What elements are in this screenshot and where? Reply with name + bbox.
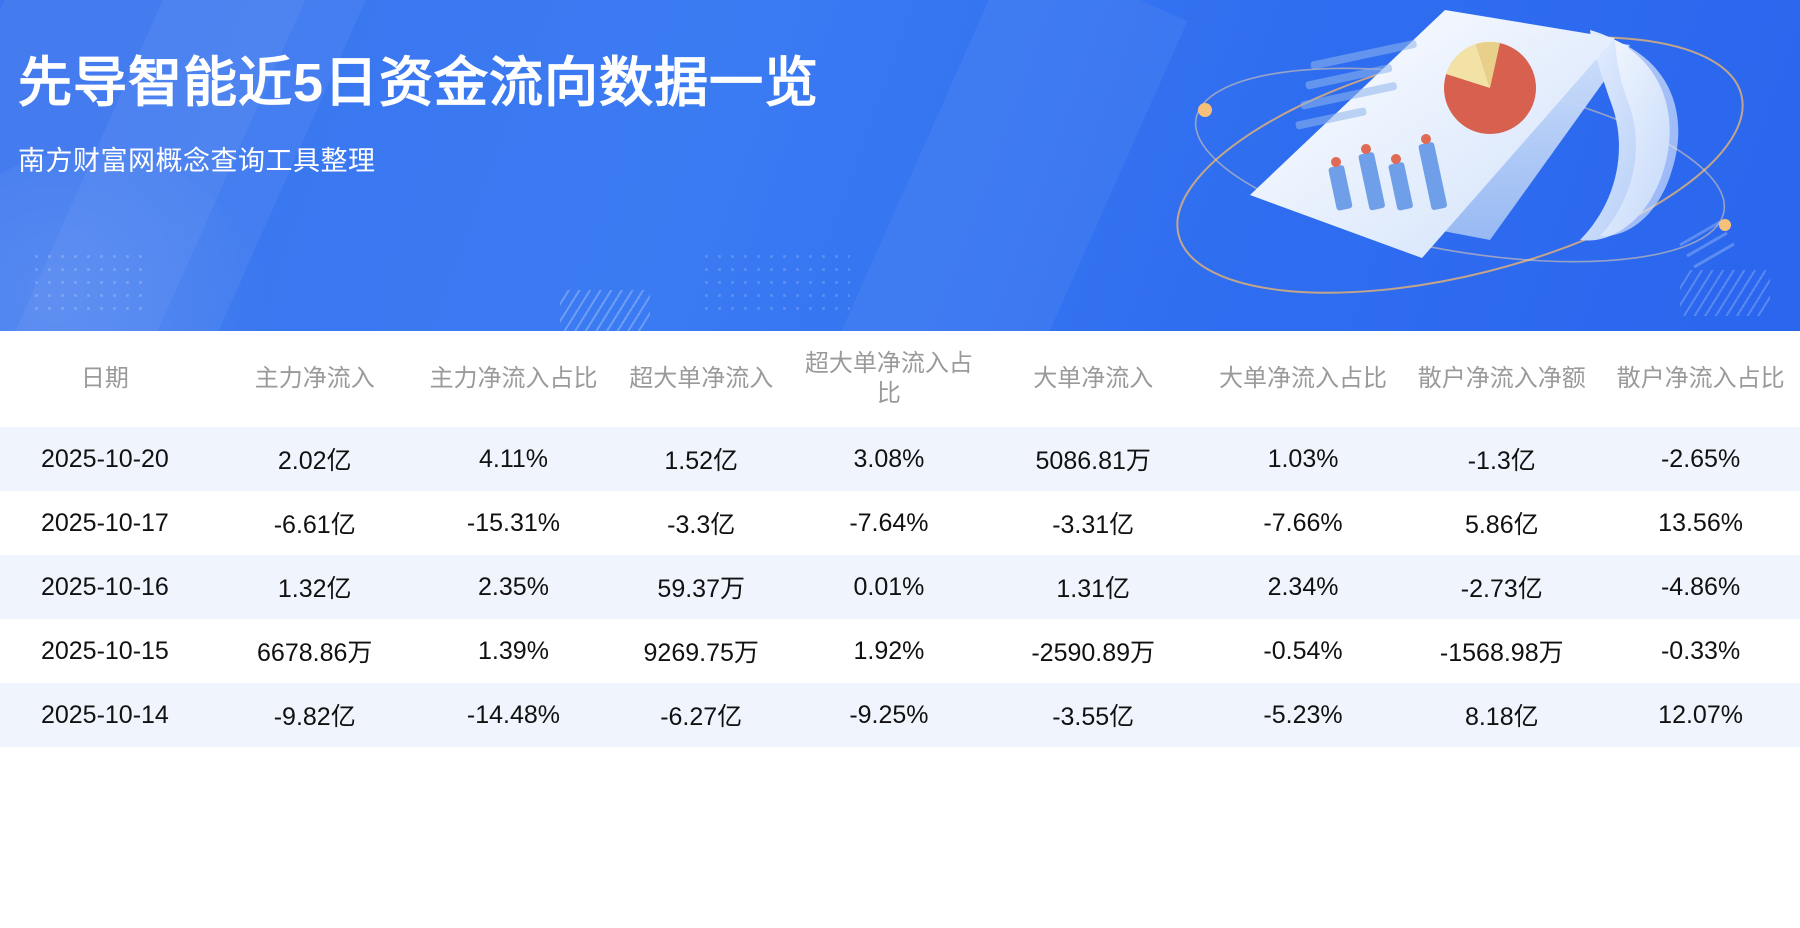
cell-large-net-inflow: 5086.81万 — [983, 427, 1204, 491]
cell-retail-net-pct: -4.86% — [1601, 555, 1800, 619]
table-row: 2025-10-14 -9.82亿 -14.48% -6.27亿 -9.25% … — [0, 683, 1800, 747]
table-row: 2025-10-15 6678.86万 1.39% 9269.75万 1.92%… — [0, 619, 1800, 683]
page-root: 先导智能近5日资金流向数据一览 南方财富网概念查询工具整理 — [0, 0, 1800, 928]
cell-retail-net-amount: 5.86亿 — [1402, 491, 1601, 555]
cell-large-net-inflow: -2590.89万 — [983, 619, 1204, 683]
table-body: 2025-10-20 2.02亿 4.11% 1.52亿 3.08% 5086.… — [0, 427, 1800, 747]
financial-report-chart-illustration — [1160, 0, 1780, 330]
cell-super-large-net-inflow-pct: -7.64% — [795, 491, 983, 555]
cell-main-net-inflow: 2.02亿 — [210, 427, 420, 491]
cell-super-large-net-inflow: 59.37万 — [607, 555, 795, 619]
cell-retail-net-amount: -1568.98万 — [1402, 619, 1601, 683]
page-title: 先导智能近5日资金流向数据一览 — [18, 52, 819, 116]
cell-large-net-inflow: -3.31亿 — [983, 491, 1204, 555]
cell-main-net-inflow: -9.82亿 — [210, 683, 420, 747]
table-header-row: 日期 主力净流入 主力净流入占比 超大单净流入 超大单净流入占比 大单净流入 大… — [0, 331, 1800, 427]
fund-flow-table-section: 南方财富网 Southmoney.com 日期 主力净流入 主力净流入占比 超大… — [0, 331, 1800, 928]
cell-main-net-inflow-pct: 2.35% — [420, 555, 608, 619]
cell-large-net-inflow-pct: -5.23% — [1204, 683, 1403, 747]
column-header-main-net-inflow-pct: 主力净流入占比 — [420, 331, 608, 427]
fund-flow-table: 日期 主力净流入 主力净流入占比 超大单净流入 超大单净流入占比 大单净流入 大… — [0, 331, 1800, 747]
cell-date: 2025-10-20 — [0, 427, 210, 491]
cell-super-large-net-inflow-pct: 1.92% — [795, 619, 983, 683]
cell-large-net-inflow-pct: -7.66% — [1204, 491, 1403, 555]
banner-decoration-dots — [30, 250, 150, 310]
cell-large-net-inflow-pct: 2.34% — [1204, 555, 1403, 619]
column-header-retail-net-amount: 散户净流入净额 — [1402, 331, 1601, 427]
cell-date: 2025-10-17 — [0, 491, 210, 555]
column-header-main-net-inflow: 主力净流入 — [210, 331, 420, 427]
cell-retail-net-pct: -2.65% — [1601, 427, 1800, 491]
cell-date: 2025-10-14 — [0, 683, 210, 747]
table-row: 2025-10-16 1.32亿 2.35% 59.37万 0.01% 1.31… — [0, 555, 1800, 619]
column-header-retail-net-pct: 散户净流入占比 — [1601, 331, 1800, 427]
column-header-large-net-inflow: 大单净流入 — [983, 331, 1204, 427]
table-row: 2025-10-17 -6.61亿 -15.31% -3.3亿 -7.64% -… — [0, 491, 1800, 555]
cell-main-net-inflow-pct: -14.48% — [420, 683, 608, 747]
table-header: 日期 主力净流入 主力净流入占比 超大单净流入 超大单净流入占比 大单净流入 大… — [0, 331, 1800, 427]
column-header-super-large-net-inflow: 超大单净流入 — [607, 331, 795, 427]
cell-large-net-inflow-pct: 1.03% — [1204, 427, 1403, 491]
banner-decoration-dots — [700, 250, 850, 320]
cell-super-large-net-inflow-pct: 0.01% — [795, 555, 983, 619]
cell-large-net-inflow: -3.55亿 — [983, 683, 1204, 747]
cell-super-large-net-inflow: 1.52亿 — [607, 427, 795, 491]
cell-main-net-inflow-pct: 4.11% — [420, 427, 608, 491]
cell-main-net-inflow-pct: -15.31% — [420, 491, 608, 555]
cell-super-large-net-inflow: -6.27亿 — [607, 683, 795, 747]
banner-decoration-hatch — [560, 290, 650, 331]
cell-large-net-inflow: 1.31亿 — [983, 555, 1204, 619]
cell-main-net-inflow-pct: 1.39% — [420, 619, 608, 683]
cell-main-net-inflow: 1.32亿 — [210, 555, 420, 619]
cell-retail-net-pct: 12.07% — [1601, 683, 1800, 747]
cell-super-large-net-inflow: -3.3亿 — [607, 491, 795, 555]
cell-retail-net-pct: 13.56% — [1601, 491, 1800, 555]
cell-main-net-inflow: -6.61亿 — [210, 491, 420, 555]
cell-super-large-net-inflow-pct: 3.08% — [795, 427, 983, 491]
cell-super-large-net-inflow-pct: -9.25% — [795, 683, 983, 747]
page-subtitle: 南方财富网概念查询工具整理 — [18, 144, 376, 179]
column-header-large-net-inflow-pct: 大单净流入占比 — [1204, 331, 1403, 427]
cell-retail-net-amount: -1.3亿 — [1402, 427, 1601, 491]
cell-large-net-inflow-pct: -0.54% — [1204, 619, 1403, 683]
cell-date: 2025-10-15 — [0, 619, 210, 683]
cell-main-net-inflow: 6678.86万 — [210, 619, 420, 683]
cell-super-large-net-inflow: 9269.75万 — [607, 619, 795, 683]
column-header-super-large-net-inflow-pct: 超大单净流入占比 — [795, 331, 983, 427]
cell-retail-net-amount: 8.18亿 — [1402, 683, 1601, 747]
cell-retail-net-pct: -0.33% — [1601, 619, 1800, 683]
column-header-date: 日期 — [0, 331, 210, 427]
banner-decoration-stripe — [802, 0, 1187, 331]
cell-date: 2025-10-16 — [0, 555, 210, 619]
table-row: 2025-10-20 2.02亿 4.11% 1.52亿 3.08% 5086.… — [0, 427, 1800, 491]
page-banner: 先导智能近5日资金流向数据一览 南方财富网概念查询工具整理 — [0, 0, 1800, 331]
cell-retail-net-amount: -2.73亿 — [1402, 555, 1601, 619]
